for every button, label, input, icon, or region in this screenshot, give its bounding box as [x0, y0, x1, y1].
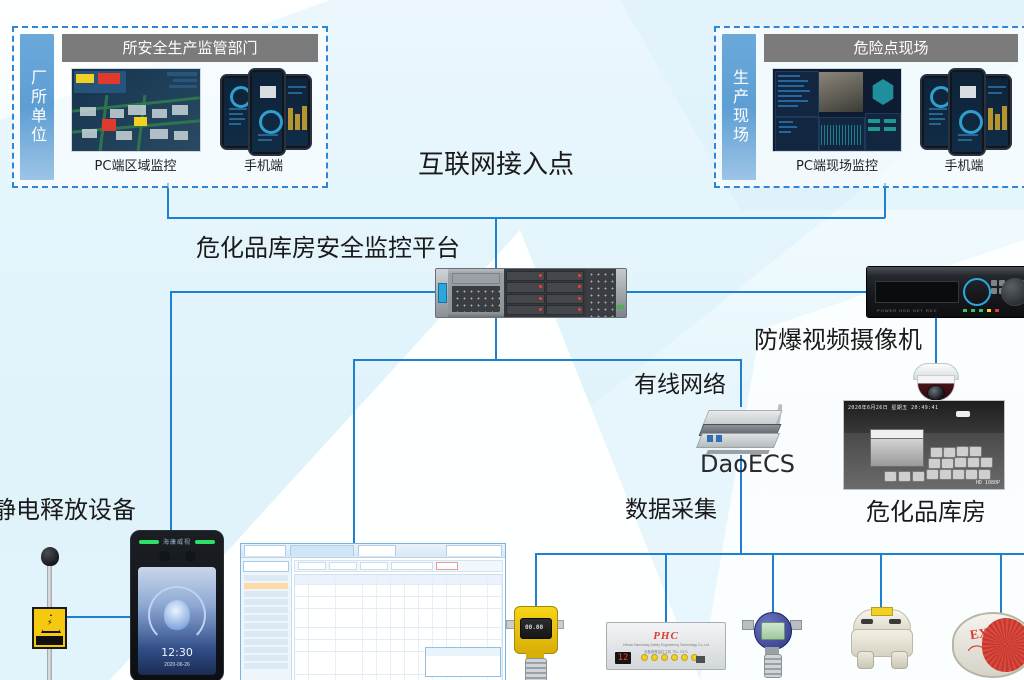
mobile-phones-left — [218, 68, 310, 152]
phc-controller: PHC Henan Hanchang Safety Engineering Te… — [606, 622, 726, 670]
drop-sensor-5 — [1000, 553, 1002, 613]
rack-server — [435, 268, 627, 318]
link-to-gateway — [740, 359, 742, 407]
panel-item-mobile-right: 手机端 — [918, 68, 1010, 174]
panel-side-label-right: 生产现场 — [722, 34, 756, 180]
table-row[interactable] — [295, 628, 502, 640]
label-hazardous-warehouse: 危化品库房 — [866, 492, 986, 527]
topology-diagram: 厂所单位 所安全生产监管部门 — [0, 0, 1024, 680]
caption-mobile-left: 手机端 — [244, 155, 283, 174]
grid-header-row — [295, 575, 502, 585]
bus-server-right — [620, 291, 870, 293]
label-explosion-proof-camera: 防爆视频摄像机 — [754, 320, 922, 355]
cctv-timestamp: 2020年6月26日 星期五 20:49:41 — [848, 404, 938, 411]
static-discharge-pole: ⚡ — [38, 545, 72, 680]
label-internet-access: 互联网接入点 — [418, 144, 574, 181]
dome-camera — [911, 363, 959, 403]
gas-detector-blue — [746, 602, 798, 680]
panel-title-left: 所安全生产监管部门 — [62, 34, 318, 62]
app-filter-bar[interactable] — [294, 560, 503, 572]
label-static-discharge: 静电释放设备 — [0, 490, 136, 525]
sidebar-button[interactable] — [243, 561, 289, 572]
side-label-text: 厂所单位 — [25, 69, 49, 145]
link-to-software — [353, 359, 355, 543]
panel-item-mobile-left: 手机端 — [218, 68, 310, 174]
app-popup-dialog[interactable] — [425, 647, 501, 677]
link-left-branch-down — [170, 291, 172, 541]
terminal-screen[interactable]: 12:30 2020-06-26 — [138, 567, 216, 675]
bus-secondary — [353, 359, 741, 361]
tab-selected[interactable] — [290, 545, 354, 556]
tab-tools[interactable] — [446, 545, 502, 556]
server-bezel — [436, 269, 448, 317]
link-left-panel-down — [167, 183, 169, 218]
server-drive-bays — [504, 269, 586, 317]
phc-brand: PHC — [653, 630, 679, 642]
server-vent — [586, 269, 616, 317]
bus-sensors — [535, 553, 1024, 555]
tab-home[interactable] — [244, 545, 286, 556]
panel-side-label-left: 厂所单位 — [20, 34, 54, 180]
management-software-window[interactable] — [240, 543, 506, 680]
dvr-recorder: POWER HDD NET REC — [866, 266, 1024, 318]
side-label-text: 生产现场 — [727, 69, 751, 145]
panel-title-right: 危险点现场 — [764, 34, 1018, 62]
table-row[interactable] — [295, 609, 502, 628]
cctv-warehouse-photo: 2020年6月26日 星期五 20:49:41 HD 1080P — [843, 400, 1005, 490]
terminal-date: 2020-06-26 — [138, 662, 216, 668]
gas-detector-yellow: 00.00 — [508, 598, 562, 680]
app-tab-bar[interactable] — [241, 544, 505, 558]
drop-sensor-2 — [665, 553, 667, 631]
server-front — [448, 269, 504, 317]
phc-sub: Henan Hanchang Safety Engineering Techno… — [607, 643, 725, 647]
server-status-panel — [616, 269, 626, 317]
panel-item-pc-left: PC端区域监控 — [71, 68, 201, 174]
gas-detector-display: 00.00 — [525, 624, 543, 631]
mobile-phones-right — [918, 68, 1010, 152]
bus-server-left — [170, 291, 438, 293]
link-server-down — [495, 315, 497, 360]
table-row[interactable] — [295, 597, 502, 609]
sidebar-tree[interactable] — [243, 575, 289, 669]
panel-item-pc-right: PC端现场监控 — [772, 68, 902, 174]
city-monitor-screenshot — [71, 68, 201, 152]
warning-sign-icon: ⚡ — [32, 607, 67, 649]
smoke-detector — [845, 605, 917, 671]
label-platform: 危化品库房安全监控平台 — [196, 228, 460, 263]
label-data-collection: 数据采集 — [625, 490, 717, 524]
terminal-brand: 海康威视 — [131, 537, 223, 546]
bus-internet — [167, 217, 885, 219]
face-terminal[interactable]: 海康威视 12:30 2020-06-26 — [130, 530, 224, 680]
tab-extra[interactable] — [358, 545, 396, 556]
label-wired-network: 有线网络 — [634, 365, 726, 399]
data-gateway — [697, 404, 783, 456]
link-dvr-to-camera — [935, 315, 937, 365]
link-right-panel-down — [884, 183, 886, 218]
drop-sensor-4 — [880, 553, 882, 611]
panel-factory-unit: 厂所单位 所安全生产监管部门 — [12, 26, 328, 188]
app-sidebar[interactable] — [241, 558, 292, 680]
caption-pc-right: PC端现场监控 — [796, 155, 878, 174]
caption-pc-left: PC端区域监控 — [95, 155, 177, 174]
phc-segment-display: 12 — [615, 652, 631, 664]
table-row[interactable] — [295, 585, 502, 597]
terminal-time: 12:30 — [138, 646, 216, 659]
panel-production-site: 生产现场 危险点现场 — [714, 26, 1024, 188]
link-pole-to-terminal — [64, 616, 130, 618]
caption-mobile-right: 手机端 — [944, 155, 983, 174]
cctv-corner-text: HD 1080P — [976, 480, 1000, 486]
alarm-horn: EX ⌒ — [948, 608, 1024, 680]
ops-dashboard-screenshot — [772, 68, 902, 152]
